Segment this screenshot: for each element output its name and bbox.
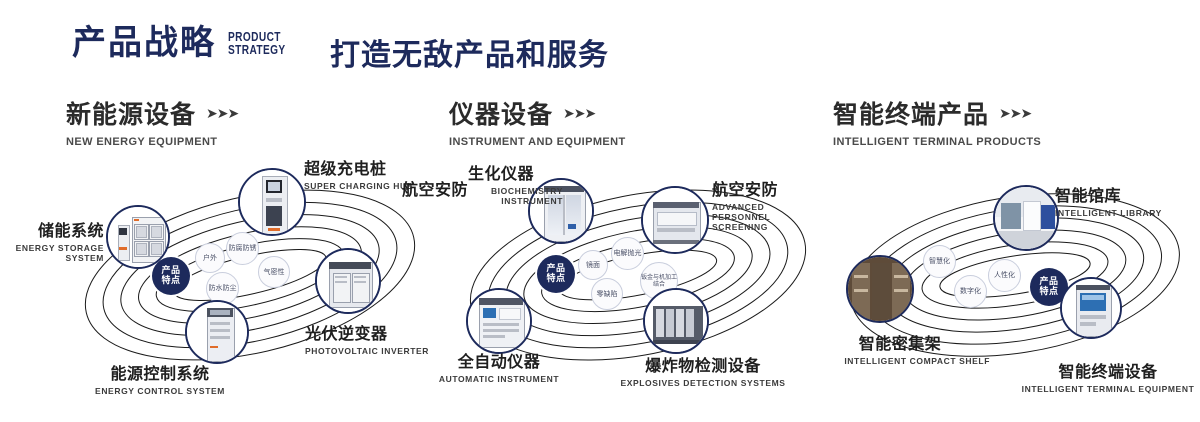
node-automatic-instrument[interactable] (466, 288, 532, 354)
label-en: PHOTOVOLTAIC INVERTER (305, 346, 429, 356)
node-intelligent-library[interactable] (993, 185, 1059, 251)
label-cn: 储能系统 (0, 217, 104, 241)
feature-bubble-mirror: 镜面 (578, 250, 608, 280)
label-cn: 全自动仪器 (420, 348, 578, 372)
hub-line1: 产品 (161, 266, 180, 276)
label-super-charging-hub: 超级充电桩 SUPER CHARGING HUB (304, 155, 414, 191)
feature-bubble-humanized: 人性化 (988, 259, 1021, 292)
feature-label: 钣金与机加工结合 (641, 274, 677, 288)
label-photovoltaic-inverter: 光伏逆变器 PHOTOVOLTAIC INVERTER (305, 320, 429, 356)
feature-bubble-anticorrosion: 防腐防锈 (226, 232, 259, 265)
label-en: SUPER CHARGING HUB (304, 181, 414, 191)
section-heading-cn: 智能终端产品 (833, 95, 989, 131)
section-heading-cn: 仪器设备 (449, 95, 553, 131)
feature-label: 智慧化 (929, 257, 950, 265)
label-intelligent-library: 智能馆库 INTELLIGENT LIBRARY (1055, 182, 1162, 218)
label-en: INTELLIGENT COMPACT SHELF (810, 356, 990, 366)
feature-bubble-digital: 数字化 (954, 275, 987, 308)
node-advanced-personnel-screening[interactable] (641, 186, 709, 254)
page-title-en: PRODUCT STRATEGY (228, 30, 286, 56)
infographic-canvas: 产品战略 PRODUCT STRATEGY 打造无敌产品和服务 新能源设备➤➤➤… (0, 0, 1200, 422)
label-en: AUTOMATIC INSTRUMENT (420, 374, 578, 384)
feature-label: 数字化 (960, 287, 981, 295)
node-explosives-detection-systems[interactable] (643, 288, 709, 354)
chevrons-icon: ➤➤➤ (999, 105, 1031, 122)
chevrons-icon: ➤➤➤ (206, 105, 238, 122)
section-heading-en: INTELLIGENT TERMINAL PRODUCTS (833, 136, 1041, 148)
label-cn: 航空安防 (712, 176, 808, 200)
chevrons-icon: ➤➤➤ (563, 105, 595, 122)
node-intelligent-compact-shelf[interactable] (846, 255, 914, 323)
feature-bubble-zero-defect: 零缺陷 (591, 278, 623, 310)
node-super-charging-hub[interactable] (238, 168, 306, 236)
node-energy-control-system[interactable] (185, 300, 249, 364)
feature-label: 电解抛光 (614, 249, 642, 257)
label-intelligent-terminal-equipment: 智能终端设备 INTELLIGENT TERMINAL EQUIPMENT (1018, 358, 1198, 394)
label-cn: 爆炸物检测设备 (615, 352, 791, 376)
label-en: ENERGY STORAGE SYSTEM (0, 243, 104, 263)
feature-label: 气密性 (264, 268, 285, 276)
feature-label: 镜面 (586, 261, 600, 269)
node-intelligent-terminal-equipment[interactable] (1060, 277, 1122, 339)
label-en: ADVANCED PERSONNEL SCREENING (712, 202, 808, 232)
label-cn: 智能馆库 (1055, 182, 1162, 206)
page-title: 产品战略 PRODUCT STRATEGY (72, 26, 302, 60)
label-en: ENERGY CONTROL SYSTEM (70, 386, 250, 396)
section-heading-cn: 新能源设备 (66, 95, 196, 131)
page-subtitle: 打造无敌产品和服务 (330, 30, 609, 74)
label-aviation-security-left: 航空安防 (400, 176, 468, 200)
page-title-en-line2: STRATEGY (228, 42, 286, 57)
hub-line1: 产品 (1039, 277, 1058, 287)
label-cn: 智能密集架 (810, 330, 990, 354)
label-biochemistry-instrument: 生化仪器 BIOCHEMISTRY INSTRUMENT (468, 160, 563, 206)
hub-line1: 产品 (546, 264, 565, 274)
label-energy-storage-system: 储能系统 ENERGY STORAGE SYSTEM (0, 217, 104, 263)
label-en: BIOCHEMISTRY INSTRUMENT (468, 186, 563, 206)
node-energy-storage-system[interactable] (106, 205, 170, 269)
feature-label: 防腐防锈 (229, 244, 257, 252)
label-automatic-instrument: 全自动仪器 AUTOMATIC INSTRUMENT (420, 348, 578, 384)
feature-bubble-electropolish: 电解抛光 (611, 237, 644, 270)
feature-bubble-outdoor: 户外 (195, 243, 225, 273)
label-energy-control-system: 能源控制系统 ENERGY CONTROL SYSTEM (70, 360, 250, 396)
hub-line2: 特点 (161, 276, 180, 286)
section-heading-new-energy: 新能源设备➤➤➤ NEW ENERGY EQUIPMENT (66, 95, 238, 148)
label-cn: 能源控制系统 (70, 360, 250, 384)
label-cn: 生化仪器 (468, 160, 563, 184)
label-explosives-detection-systems: 爆炸物检测设备 EXPLOSIVES DETECTION SYSTEMS (615, 352, 791, 388)
label-advanced-personnel-screening: 航空安防 ADVANCED PERSONNEL SCREENING (712, 176, 808, 232)
label-en: INTELLIGENT LIBRARY (1055, 208, 1162, 218)
label-cn: 超级充电桩 (304, 155, 414, 179)
label-intelligent-compact-shelf: 智能密集架 INTELLIGENT COMPACT SHELF (810, 330, 990, 366)
section-heading-terminal: 智能终端产品➤➤➤ INTELLIGENT TERMINAL PRODUCTS (833, 95, 1041, 148)
node-photovoltaic-inverter[interactable] (315, 248, 381, 314)
feature-label: 零缺陷 (597, 290, 618, 298)
feature-bubble-smart: 智慧化 (923, 245, 956, 278)
hub-line2: 特点 (546, 274, 565, 284)
page-title-cn: 产品战略 (72, 26, 216, 60)
feature-label: 户外 (203, 254, 217, 262)
section-heading-en: NEW ENERGY EQUIPMENT (66, 136, 238, 148)
section-heading-en: INSTRUMENT AND EQUIPMENT (449, 136, 626, 148)
feature-label: 人性化 (994, 271, 1015, 279)
feature-bubble-airtight: 气密性 (258, 256, 290, 288)
label-en: EXPLOSIVES DETECTION SYSTEMS (615, 378, 791, 388)
label-cn: 航空安防 (400, 176, 468, 200)
hub-line2: 特点 (1039, 287, 1058, 297)
label-cn: 光伏逆变器 (305, 320, 429, 344)
feature-hub-instrument: 产品 特点 (537, 255, 575, 293)
feature-label: 防水防尘 (209, 284, 237, 292)
section-heading-instrument: 仪器设备➤➤➤ INSTRUMENT AND EQUIPMENT (449, 95, 626, 148)
label-en: INTELLIGENT TERMINAL EQUIPMENT (1018, 384, 1198, 394)
label-cn: 智能终端设备 (1018, 358, 1198, 382)
